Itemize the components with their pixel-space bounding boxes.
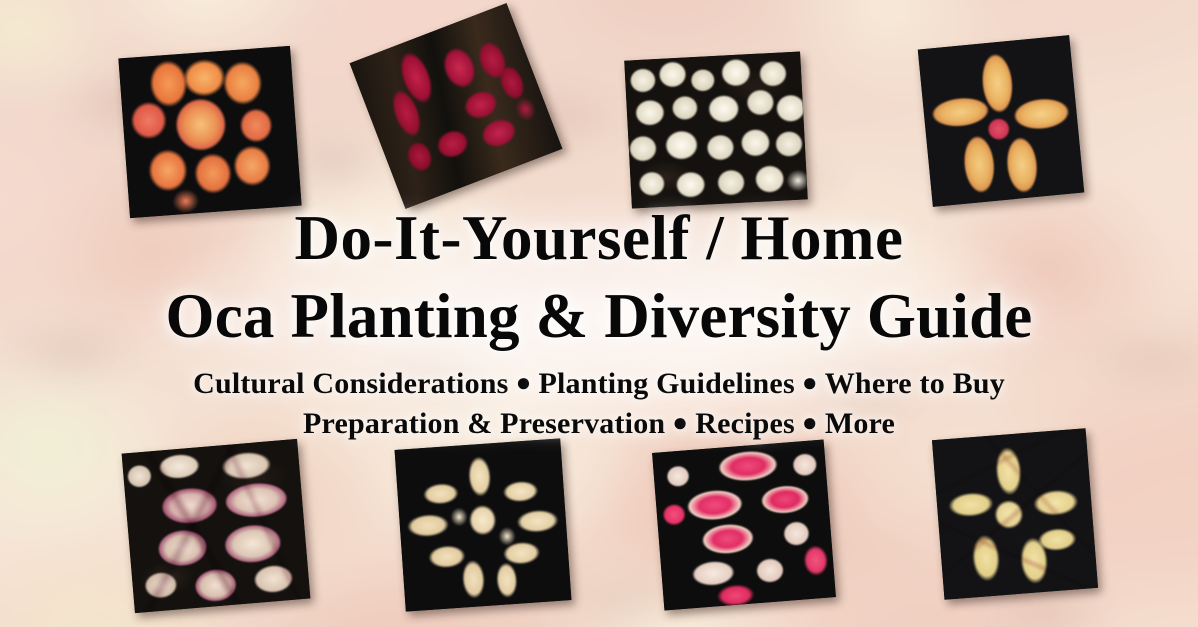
photo-tubers bbox=[118, 46, 301, 218]
photo-tuber-streaks bbox=[932, 428, 1098, 600]
oca-guide-banner: Do-It-Yourself / Home Oca Planting & Div… bbox=[0, 0, 1198, 627]
photo-tubers bbox=[652, 439, 836, 610]
photo-tile-yellow-streaked-oca bbox=[932, 428, 1098, 600]
headline-block: Do-It-Yourself / Home Oca Planting & Div… bbox=[0, 206, 1198, 443]
photo-tile-streaked-purple-oca bbox=[122, 439, 311, 613]
bullet-separator-icon: ● bbox=[672, 406, 688, 439]
bullet-separator-icon: ● bbox=[516, 366, 532, 399]
headline-primary: Do-It-Yourself / Home bbox=[0, 206, 1198, 270]
bullet-separator-icon: ● bbox=[802, 366, 818, 399]
photo-tile-orange-oca bbox=[118, 46, 301, 218]
photo-tile-white-oca bbox=[624, 51, 808, 208]
bullet-separator-icon: ● bbox=[802, 406, 818, 439]
photo-tile-apricot-star-oca bbox=[918, 35, 1084, 207]
subtitle-item-planting-guidelines: Planting Guidelines bbox=[538, 367, 794, 400]
headline-secondary: Oca Planting & Diversity Guide bbox=[0, 284, 1198, 348]
photo-tubers bbox=[395, 438, 572, 611]
subtitle-line-1: Cultural Considerations●Planting Guideli… bbox=[0, 365, 1198, 403]
photo-tile-pink-white-oca bbox=[652, 439, 836, 610]
subtitle-item-more: More bbox=[825, 407, 895, 440]
subtitle-item-cultural-considerations: Cultural Considerations bbox=[193, 367, 508, 400]
subtitle-item-preparation-preservation: Preparation & Preservation bbox=[303, 407, 665, 440]
photo-tuber-streaks bbox=[122, 439, 311, 613]
subtitle-item-recipes: Recipes bbox=[695, 407, 795, 440]
photo-tubers bbox=[918, 35, 1084, 207]
photo-tubers bbox=[624, 51, 808, 208]
photo-tile-ivory-cluster-oca bbox=[395, 438, 572, 611]
subtitle-item-where-to-buy: Where to Buy bbox=[825, 367, 1005, 400]
subtitle-line-2: Preparation & Preservation●Recipes●More bbox=[0, 405, 1198, 443]
